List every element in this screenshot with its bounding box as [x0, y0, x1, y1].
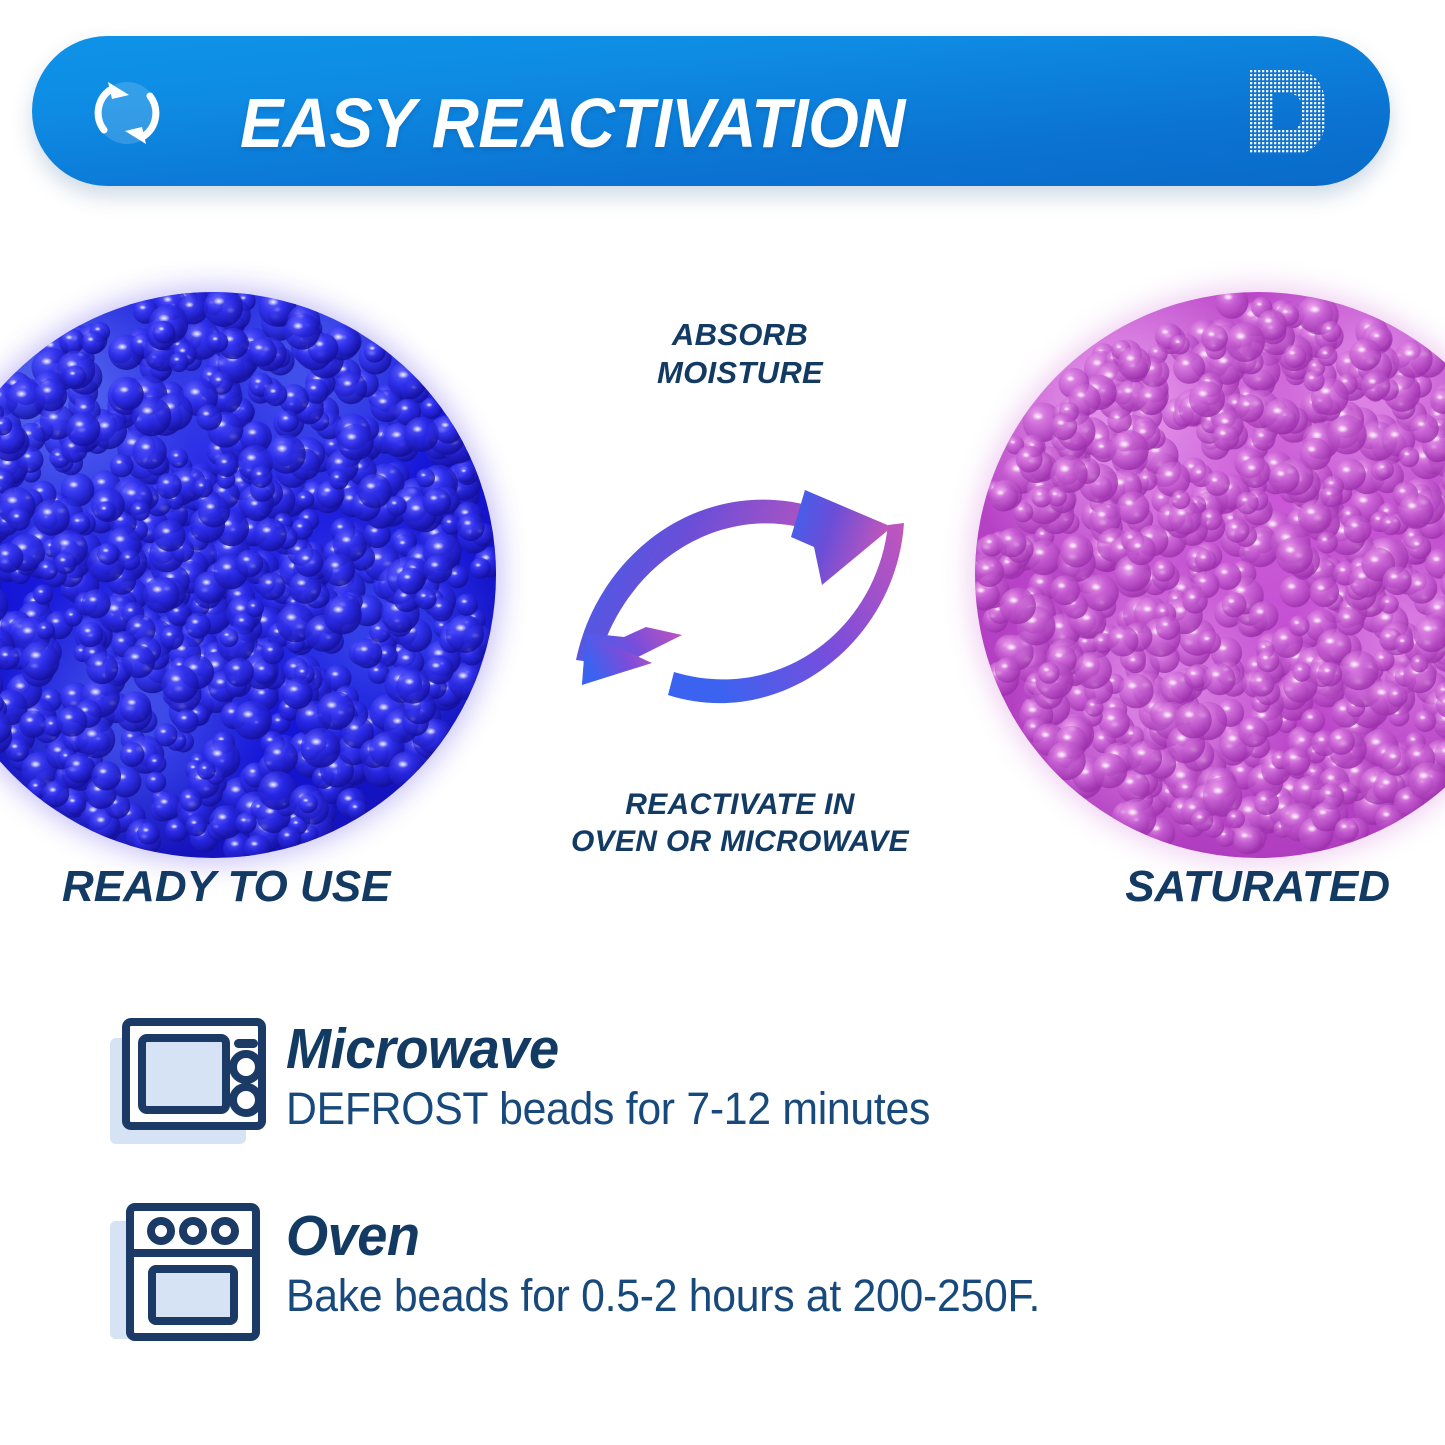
infographic-page: EASY REACTIVATION: [0, 0, 1445, 1445]
moisture-cycle-diagram: ABSORB MOISTURE: [540, 300, 940, 860]
reactivate-caption: REACTIVATE IN OVEN OR MICROWAVE: [540, 786, 940, 860]
instruction-row-microwave: Microwave DEFROST beads for 7-12 minutes: [104, 1012, 1404, 1157]
halftone-d-logo: [1242, 66, 1334, 158]
reactivate-line-2: OVEN OR MICROWAVE: [540, 823, 940, 860]
ready-to-use-label: READY TO USE: [62, 862, 390, 912]
blue-beads-circle: [0, 292, 496, 858]
saturated-label: SATURATED: [1125, 862, 1390, 912]
reactivation-cycle-icon: [82, 68, 172, 156]
microwave-title: Microwave: [286, 1018, 930, 1080]
reactivate-line-1: REACTIVATE IN: [540, 786, 940, 823]
microwave-description: DEFROST beads for 7-12 minutes: [286, 1080, 930, 1138]
oven-icon: [104, 1199, 286, 1344]
oven-description: Bake beads for 0.5-2 hours at 200-250F.: [286, 1267, 1040, 1325]
oven-title: Oven: [286, 1205, 1040, 1267]
absorb-moisture-caption: ABSORB MOISTURE: [540, 316, 940, 392]
page-title: EASY REACTIVATION: [240, 86, 905, 160]
microwave-icon: [104, 1012, 286, 1157]
purple-beads-circle: [975, 292, 1445, 858]
absorb-line-1: ABSORB: [540, 316, 940, 354]
cycle-arrows: [540, 395, 940, 790]
header-banner: EASY REACTIVATION: [32, 36, 1390, 186]
reactivation-instructions: Microwave DEFROST beads for 7-12 minutes…: [104, 1012, 1404, 1344]
instruction-row-oven: Oven Bake beads for 0.5-2 hours at 200-2…: [104, 1199, 1404, 1344]
absorb-line-2: MOISTURE: [540, 354, 940, 392]
